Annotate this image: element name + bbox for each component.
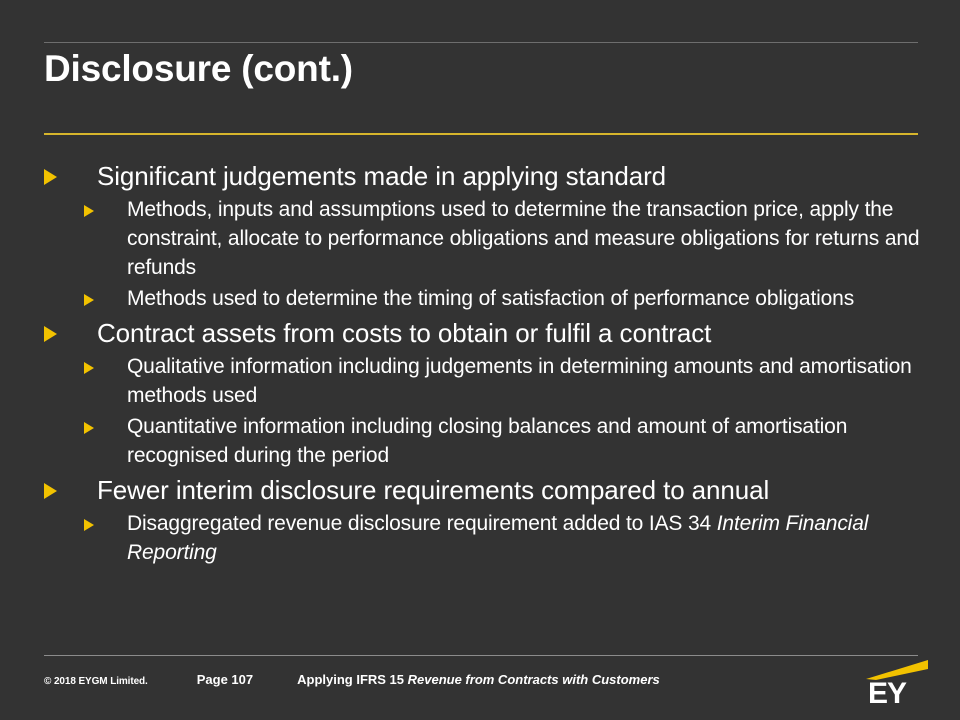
bullet-item-3-1: Disaggregated revenue disclosure require… bbox=[84, 509, 924, 567]
triangle-bullet-icon bbox=[84, 205, 104, 217]
ey-logo: EY bbox=[866, 660, 932, 710]
bullet-text: Methods used to determine the timing of … bbox=[127, 284, 854, 313]
bullet-text-plain: Disaggregated revenue disclosure require… bbox=[127, 512, 717, 535]
footer: © 2018 EYGM Limited. Page 107 Applying I… bbox=[44, 672, 844, 687]
page-number: Page 107 bbox=[197, 672, 253, 687]
bullet-text: Fewer interim disclosure requirements co… bbox=[97, 472, 769, 508]
triangle-bullet-icon bbox=[84, 519, 104, 531]
document-reference: Applying IFRS 15 Revenue from Contracts … bbox=[297, 672, 660, 687]
footer-divider bbox=[44, 655, 918, 656]
slide: Disclosure (cont.) Significant judgement… bbox=[0, 0, 960, 720]
bullet-text: Contract assets from costs to obtain or … bbox=[97, 315, 711, 351]
ey-wordmark: EY bbox=[868, 679, 906, 709]
bullet-text-mixed: Disaggregated revenue disclosure require… bbox=[127, 509, 924, 567]
bullet-text: Qualitative information including judgem… bbox=[127, 352, 924, 410]
copyright-text: © 2018 EYGM Limited. bbox=[44, 676, 148, 687]
bullet-text: Methods, inputs and assumptions used to … bbox=[127, 195, 924, 282]
document-reference-title: Revenue from Contracts with Customers bbox=[408, 672, 660, 687]
document-reference-prefix: Applying IFRS 15 bbox=[297, 672, 408, 687]
bullet-item-2-1: Qualitative information including judgem… bbox=[84, 352, 924, 410]
title-accent-divider bbox=[44, 133, 918, 135]
triangle-bullet-icon bbox=[84, 422, 104, 434]
bullet-item-1-2: Methods used to determine the timing of … bbox=[84, 284, 924, 313]
bullet-item-1: Significant judgements made in applying … bbox=[44, 158, 924, 194]
title-top-divider bbox=[44, 42, 918, 43]
bullet-item-3: Fewer interim disclosure requirements co… bbox=[44, 472, 924, 508]
triangle-bullet-icon bbox=[44, 169, 70, 185]
triangle-bullet-icon bbox=[84, 362, 104, 374]
triangle-bullet-icon bbox=[44, 483, 70, 499]
bullet-item-1-1: Methods, inputs and assumptions used to … bbox=[84, 195, 924, 282]
bullet-item-2: Contract assets from costs to obtain or … bbox=[44, 315, 924, 351]
bullet-text: Quantitative information including closi… bbox=[127, 412, 924, 470]
bullet-item-2-2: Quantitative information including closi… bbox=[84, 412, 924, 470]
bullet-text: Significant judgements made in applying … bbox=[97, 158, 666, 194]
triangle-bullet-icon bbox=[84, 294, 104, 306]
triangle-bullet-icon bbox=[44, 326, 70, 342]
bullet-list: Significant judgements made in applying … bbox=[44, 158, 924, 569]
page-title: Disclosure (cont.) bbox=[44, 46, 924, 92]
